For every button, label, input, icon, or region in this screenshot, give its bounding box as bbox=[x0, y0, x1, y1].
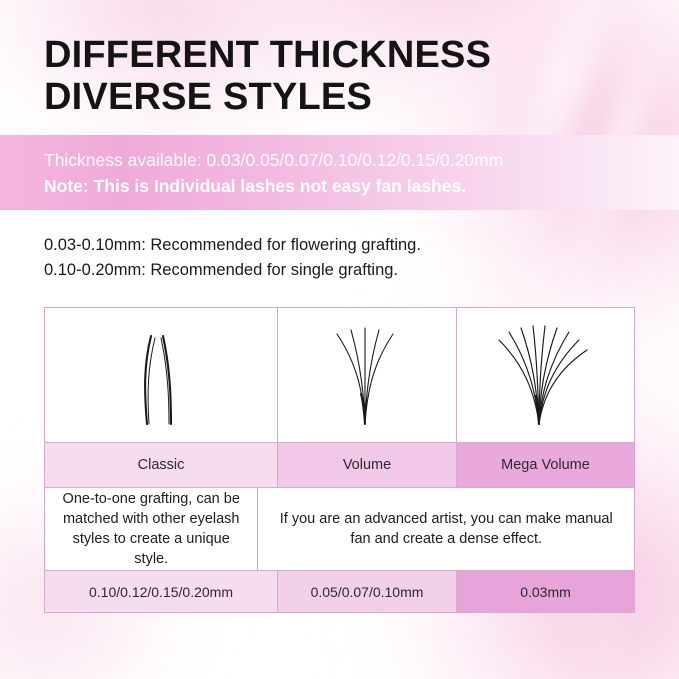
page-title-line-2: DIVERSE STYLES bbox=[44, 76, 644, 118]
mega-volume-lash-illustration-cell bbox=[457, 308, 634, 442]
thickness-available-text: Thickness available: 0.03/0.05/0.07/0.10… bbox=[44, 149, 503, 171]
page-title-line-1: DIFFERENT THICKNESS bbox=[44, 34, 491, 76]
lash-style-comparison-table: Classic Volume Mega Volume One-to-one gr… bbox=[44, 307, 635, 613]
classic-lash-illustration-cell bbox=[45, 308, 278, 442]
style-description-classic: One-to-one grafting, can be matched with… bbox=[45, 488, 258, 570]
style-title-classic: Classic bbox=[45, 443, 278, 487]
style-sizes-mega-volume: 0.03mm bbox=[457, 571, 634, 612]
style-description-volume-mega: If you are an advanced artist, you can m… bbox=[258, 488, 634, 570]
page-title: DIFFERENT THICKNESS DIVERSE STYLES bbox=[44, 34, 644, 118]
style-sizes-classic: 0.10/0.12/0.15/0.20mm bbox=[45, 571, 278, 612]
table-row-sizes: 0.10/0.12/0.15/0.20mm 0.05/0.07/0.10mm 0… bbox=[45, 570, 634, 612]
style-sizes-volume: 0.05/0.07/0.10mm bbox=[278, 571, 457, 612]
volume-lash-illustration-cell bbox=[278, 308, 457, 442]
table-row-titles: Classic Volume Mega Volume bbox=[45, 442, 634, 488]
recommendation-line-2: 0.10-0.20mm: Recommended for single graf… bbox=[44, 258, 398, 283]
volume-lash-fan-illustration-icon bbox=[307, 320, 427, 430]
note-text: Note: This is Individual lashes not easy… bbox=[44, 175, 466, 197]
classic-lash-illustration-icon bbox=[101, 320, 221, 430]
recommendation-line-1: 0.03-0.10mm: Recommended for flowering g… bbox=[44, 233, 421, 258]
mega-volume-lash-fan-illustration-icon bbox=[481, 320, 611, 430]
style-title-mega-volume: Mega Volume bbox=[457, 443, 634, 487]
table-row-illustrations bbox=[45, 308, 634, 442]
style-title-volume: Volume bbox=[278, 443, 457, 487]
table-row-descriptions: One-to-one grafting, can be matched with… bbox=[45, 488, 634, 570]
thickness-banner: Thickness available: 0.03/0.05/0.07/0.10… bbox=[0, 135, 679, 210]
product-infographic-page: DIFFERENT THICKNESS DIVERSE STYLES Thick… bbox=[0, 0, 679, 679]
